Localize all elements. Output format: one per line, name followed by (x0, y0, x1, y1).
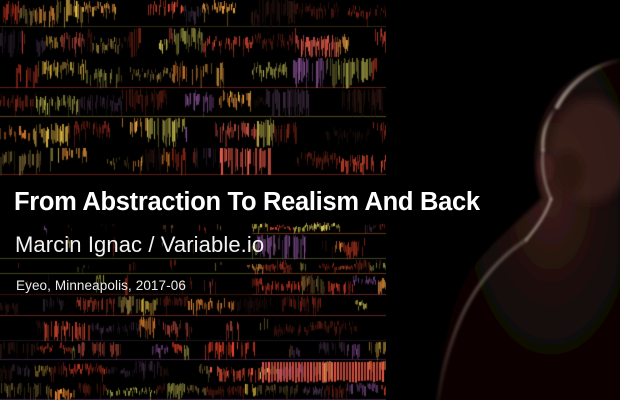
generative-texture-bottom (0, 222, 386, 400)
generative-texture-top (0, 0, 386, 176)
person-silhouette (386, 0, 620, 400)
title-backdrop (0, 176, 386, 222)
presentation-slide: From Abstraction To Realism And Back Mar… (0, 0, 620, 400)
